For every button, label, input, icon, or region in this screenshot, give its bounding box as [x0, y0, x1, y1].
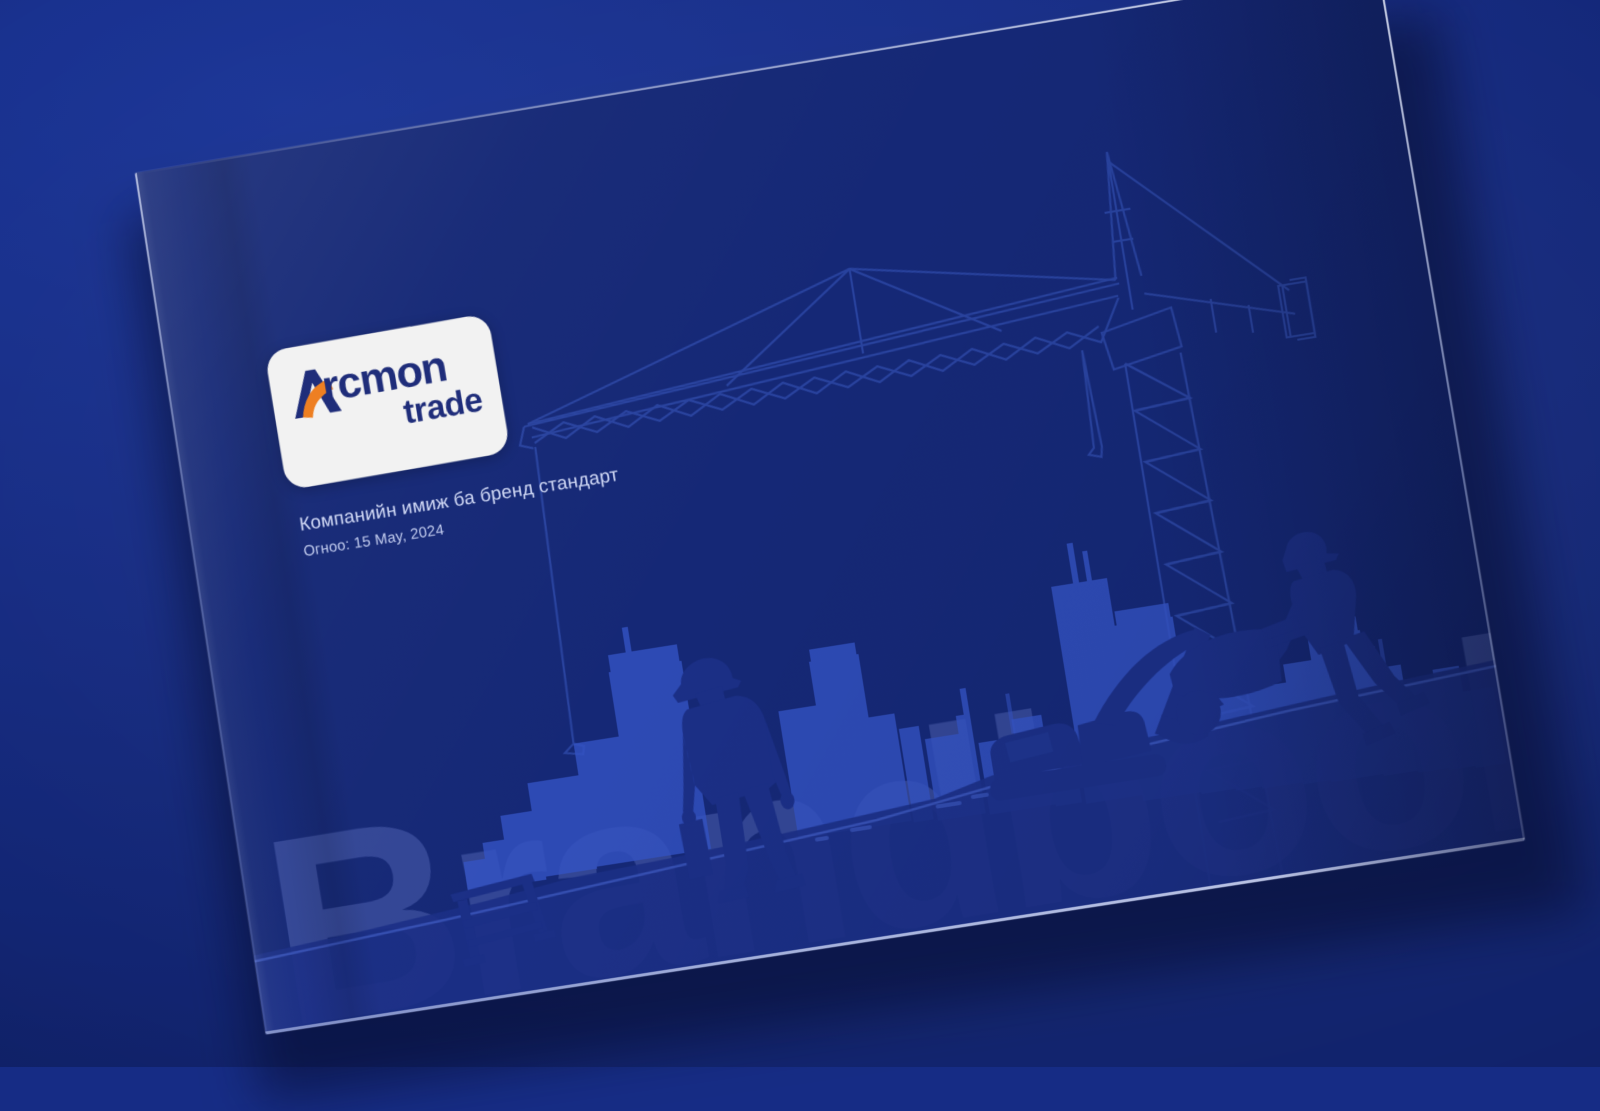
brandbook-cover[interactable]: Brandbook — [135, 0, 1525, 1035]
logo-inner: Arcmon trade — [290, 344, 485, 459]
cover-far-shading — [1080, 0, 1525, 887]
book-stage: Brandbook — [0, 0, 1600, 1067]
sawhorse-barrier-icon — [449, 872, 559, 968]
